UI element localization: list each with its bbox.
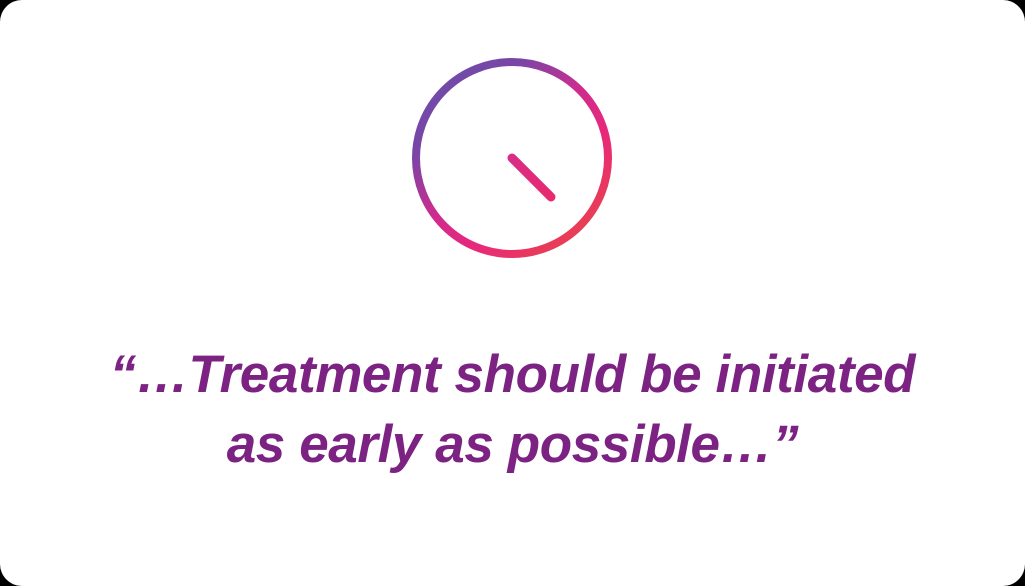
minute-hand xyxy=(512,158,551,197)
clock-illustration xyxy=(406,52,618,264)
clock-icon xyxy=(406,52,618,264)
quote-line-1: “…Treatment should be initiated xyxy=(0,340,1025,410)
quote-line-2: as early as possible…” xyxy=(0,410,1025,480)
quote-card: “…Treatment should be initiated as early… xyxy=(0,0,1025,586)
quote-text-block: “…Treatment should be initiated as early… xyxy=(0,340,1025,480)
